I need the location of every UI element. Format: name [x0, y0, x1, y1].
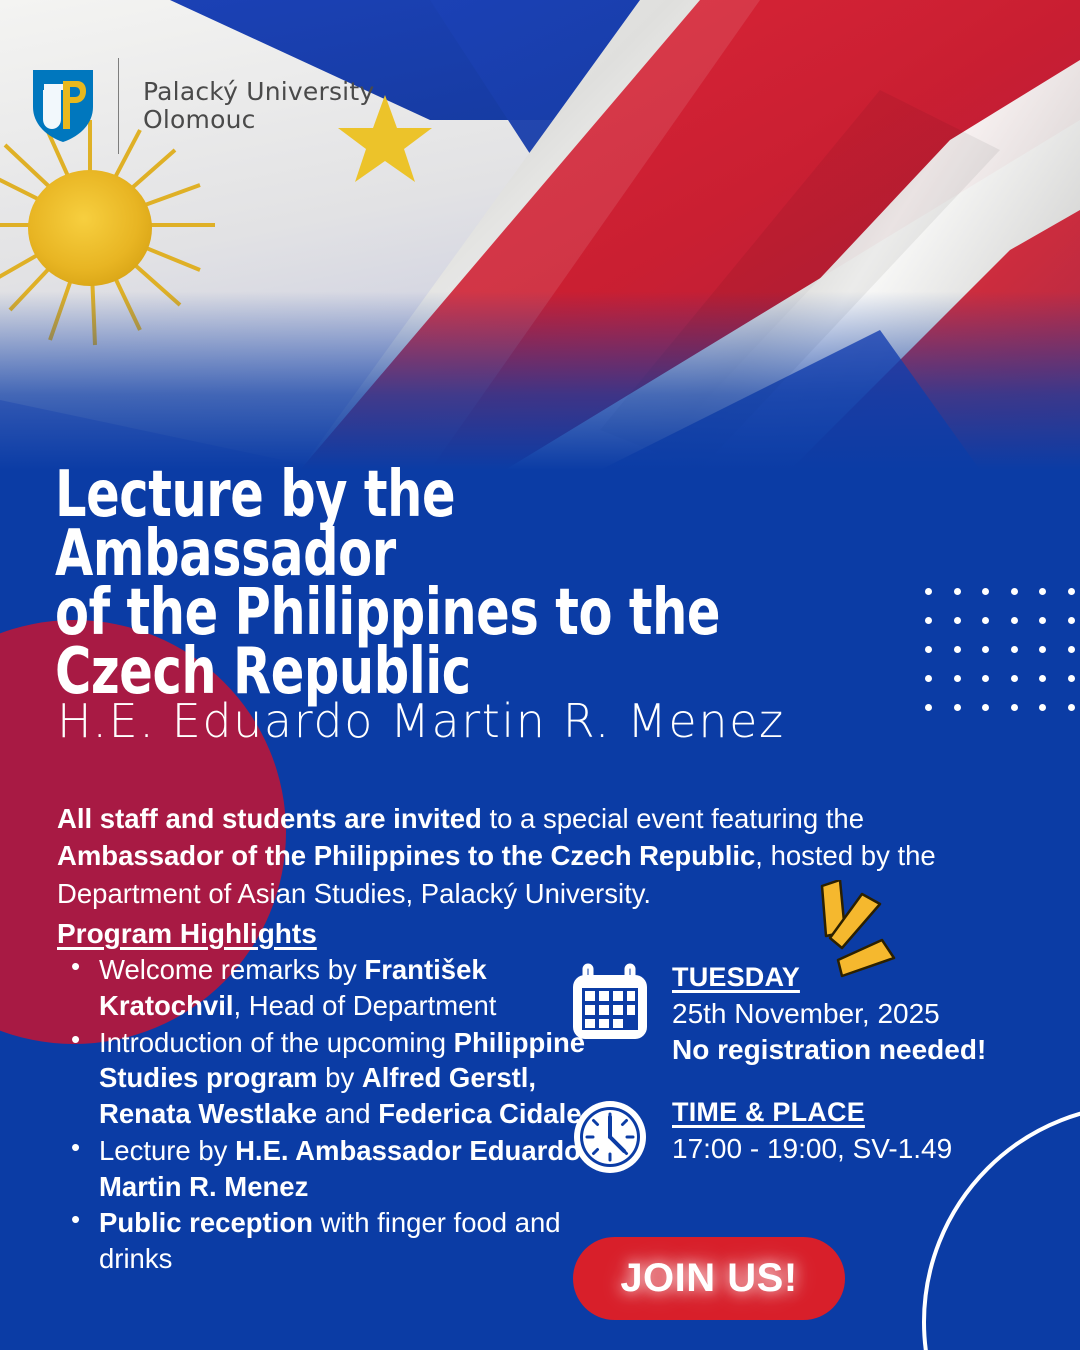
program-heading: Program Highlights — [57, 918, 317, 950]
item-bold-3: Federica Cidale — [378, 1098, 581, 1129]
clock-icon — [568, 1095, 652, 1179]
date-info-block: TUESDAY 25th November, 2025 No registrat… — [568, 960, 986, 1066]
up-shield-logo-icon — [30, 67, 96, 145]
logo-divider — [118, 58, 119, 154]
university-name: Palacký University Olomouc — [143, 78, 374, 134]
program-list: Welcome remarks by František Kratochvil,… — [57, 952, 599, 1278]
intro-text-1: to a special event featuring the — [482, 803, 864, 834]
date-value: 25th November, 2025 — [672, 998, 986, 1029]
list-item: Lecture by H.E. Ambassador Eduardo Marti… — [99, 1133, 599, 1205]
university-name-line1: Palacký University — [143, 77, 374, 106]
intro-paragraph: All staff and students are invited to a … — [57, 800, 1007, 914]
list-item: Introduction of the upcoming Philippine … — [99, 1025, 599, 1132]
poster-content: Lecture by the Ambassador of the Philipp… — [0, 0, 1080, 1350]
join-us-button[interactable]: JOIN US! — [573, 1237, 845, 1320]
item-bold: Public reception — [99, 1207, 313, 1238]
item-pre: Welcome remarks by — [99, 954, 364, 985]
time-place-info-block: TIME & PLACE 17:00 - 19:00, SV-1.49 — [568, 1095, 952, 1179]
item-post: , Head of Department — [233, 990, 496, 1021]
speaker-subtitle: H.E. Eduardo Martin R. Menez — [57, 696, 785, 747]
date-label: TUESDAY — [672, 962, 986, 993]
poster-canvas: Palacký University Olomouc Lecture by th… — [0, 0, 1080, 1350]
university-name-line2: Olomouc — [143, 106, 374, 134]
registration-note: No registration needed! — [672, 1034, 986, 1065]
time-place-label: TIME & PLACE — [672, 1097, 952, 1128]
list-item: Welcome remarks by František Kratochvil,… — [99, 952, 599, 1024]
item-pre: Lecture by — [99, 1135, 235, 1166]
item-pre: Introduction of the upcoming — [99, 1027, 454, 1058]
item-post-2: and — [317, 1098, 378, 1129]
page-title: Lecture by the Ambassador of the Philipp… — [55, 466, 786, 702]
intro-bold-2: Ambassador of the Philippines to the Cze… — [57, 840, 755, 871]
university-logo: Palacký University Olomouc — [30, 58, 374, 154]
time-place-value: 17:00 - 19:00, SV-1.49 — [672, 1133, 952, 1164]
calendar-icon — [568, 960, 652, 1044]
item-post: by — [318, 1062, 362, 1093]
list-item: Public reception with finger food and dr… — [99, 1205, 599, 1277]
intro-bold-1: All staff and students are invited — [57, 803, 482, 834]
